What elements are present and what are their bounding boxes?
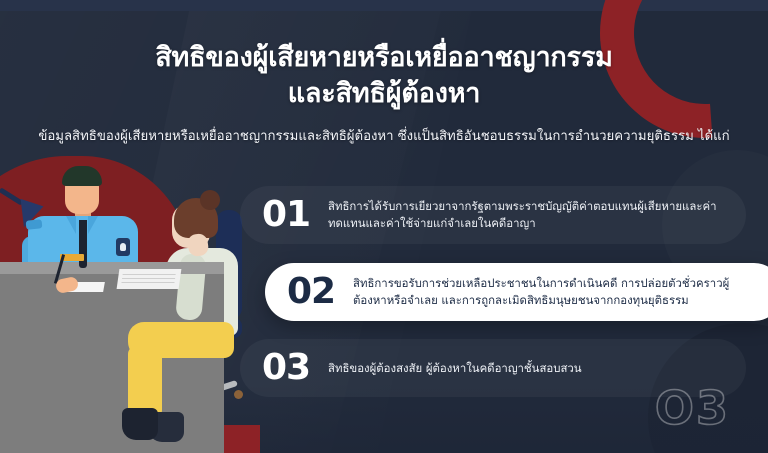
officer-epaulette [26,219,43,230]
page-number: O3 [655,385,730,431]
officer-shoulder-patch [116,238,130,256]
officer-collar-left [66,216,76,234]
page-subtitle: ข้อมูลสิทธิของผู้เสียหายหรือเหยื่ออาชญาก… [0,128,768,146]
list-item-02-text: สิทธิการขอรับการช่วยเหลือประชาชนในการดำเ… [349,275,759,308]
officer-hair [62,166,102,186]
list-gap-1 [240,244,768,263]
woman-hair-bun [200,190,220,210]
list-item-02-number: 02 [287,274,349,310]
list-item-01-number: 01 [262,197,324,233]
police-interview-illustration [0,150,268,453]
page-title: สิทธิของผู้เสียหายหรือเหยื่ออาชญากรรม แล… [0,40,768,112]
desk-documents [117,269,182,289]
slide-root: สิทธิของผู้เสียหายหรือเหยื่ออาชญากรรม แล… [0,0,768,453]
page-title-line-1: สิทธิของผู้เสียหายหรือเหยื่ออาชญากรรม [0,40,768,76]
list-item-01-text: สิทธิการได้รับการเยียวยาจากรัฐตามพระราชบ… [324,198,722,231]
list-item-02[interactable]: 02 สิทธิการขอรับการช่วยเหลือประชาชนในการ… [265,263,768,321]
list-gap-2 [240,321,768,339]
list-item-01[interactable]: 01 สิทธิการได้รับการเยียวยาจากรัฐตามพระร… [240,186,746,244]
page-title-line-2: และสิทธิผู้ต้องหา [0,76,768,112]
desk-top-edge [0,262,224,274]
rights-list: 01 สิทธิการได้รับการเยียวยาจากรัฐตามพระร… [240,186,768,397]
header: สิทธิของผู้เสียหายหรือเหยื่ออาชญากรรม แล… [0,0,768,146]
list-item-03-number: 03 [262,350,324,386]
woman-boot-front [122,408,158,440]
list-item-03-text: สิทธิของผู้ต้องสงสัย ผู้ต้องหาในคดีอาญาช… [324,360,582,377]
officer-collar-right [88,216,98,234]
